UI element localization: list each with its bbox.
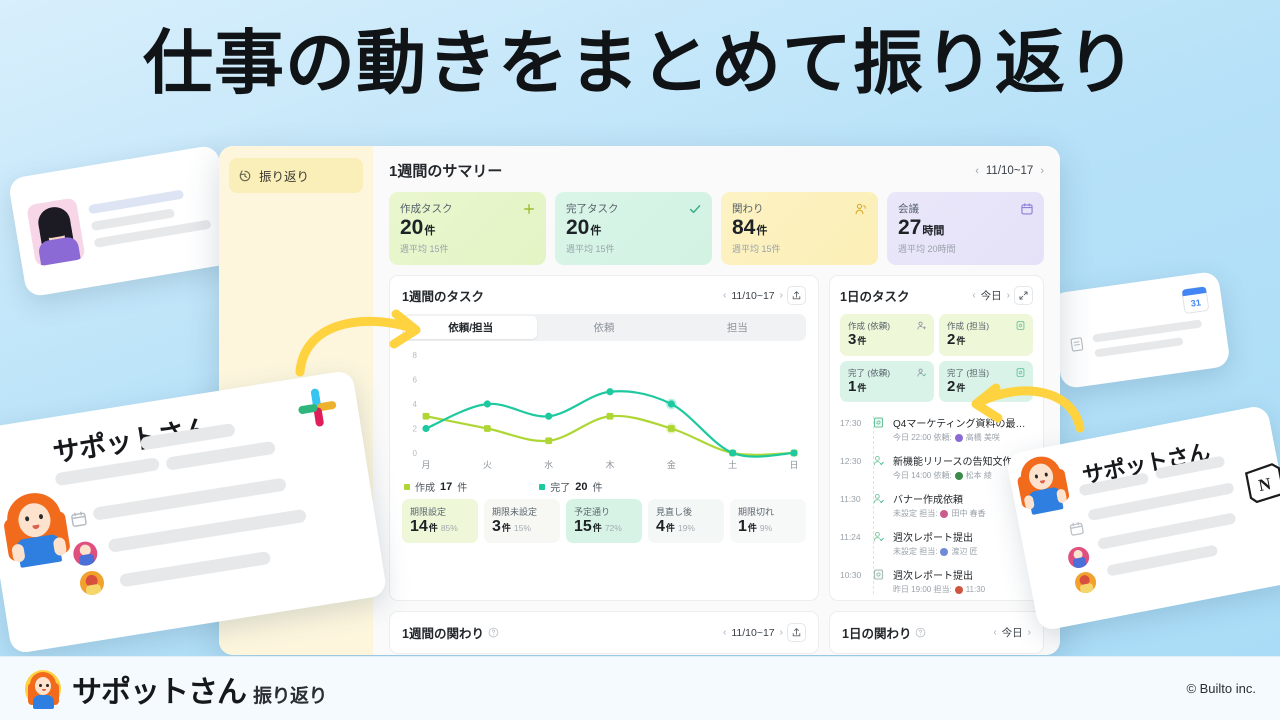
card-sub: 週平均 15件 <box>400 242 535 255</box>
card-label: 完了タスク <box>566 201 701 216</box>
card-label: 会議 <box>898 201 1033 216</box>
person-check-icon <box>872 529 887 548</box>
panel-title: 1日のタスク <box>840 286 909 305</box>
card-sub: 週平均 15件 <box>732 242 867 255</box>
mini-card-completed-assign[interactable]: 完了 (担当) 2件 <box>939 361 1033 403</box>
task-meta: 未設定 担当: 田中 春香 <box>893 508 1033 519</box>
card-sub: 週平均 20時間 <box>898 242 1033 255</box>
mini-card-completed-request[interactable]: 完了 (依頼) 1件 <box>840 361 934 403</box>
day-relation-pager[interactable]: ‹ 今日 › <box>993 625 1031 640</box>
week-pager[interactable]: ‹ 11/10~17 › <box>975 165 1044 177</box>
supotto-avatar-icon <box>24 669 62 709</box>
prev-arrow[interactable]: ‹ <box>975 165 979 177</box>
supotto-character-avatar <box>0 486 74 569</box>
svg-text:0: 0 <box>413 449 418 458</box>
mini-value: 2件 <box>947 379 1025 396</box>
stat-overdue: 期限切れ 1件9% <box>730 499 806 543</box>
mini-value: 2件 <box>947 332 1025 349</box>
svg-text:木: 木 <box>605 459 614 470</box>
next-arrow[interactable]: › <box>1028 627 1031 638</box>
task-meta: 未設定 担当: 渡辺 匠 <box>893 546 1033 557</box>
expand-icon <box>1018 290 1029 301</box>
stat-title: 期限未設定 <box>492 505 552 518</box>
middle-row: 1週間のタスク ‹ 11/10~17 › <box>389 275 1044 601</box>
person-check-icon <box>872 491 887 510</box>
summary-cards: 作成タスク 20件 週平均 15件 完了タスク 20件 週平均 15件 関わり … <box>389 192 1044 265</box>
card-label: 関わり <box>732 201 867 216</box>
history-icon <box>238 169 252 183</box>
panel-day-tasks: 1日のタスク ‹ 今日 › <box>829 275 1044 601</box>
panel-day-relation: 1日の関わり ‹ 今日 › <box>829 611 1044 654</box>
task-time: 10:30 <box>840 567 866 580</box>
legend-item-created: 作成 17 件 <box>404 479 467 494</box>
legend-label: 完了 <box>550 479 570 494</box>
legend-value: 20 <box>575 481 587 493</box>
svg-text:31: 31 <box>1190 297 1201 308</box>
mini-value: 1件 <box>848 379 926 396</box>
pager-value: 11/10~17 <box>986 165 1033 177</box>
list-item[interactable]: 11:24 週次レポート提出 未設定 担当: 渡辺 匠 <box>840 524 1033 562</box>
task-time: 11:24 <box>840 529 866 542</box>
day-mini-cards: 作成 (依頼) 3件 作成 (担当) 2件 <box>840 314 1033 402</box>
card-label: 作成タスク <box>400 201 535 216</box>
calendar-icon <box>1067 519 1086 538</box>
check-icon <box>688 202 702 216</box>
stat-deadline-set: 期限設定 14件85% <box>402 499 478 543</box>
slack-logo <box>292 382 342 432</box>
sidebar-item-furikaeri[interactable]: 振り返り <box>229 158 363 193</box>
card-value: 84件 <box>732 217 867 239</box>
weekly-task-line-chart: 02468月火水木金土日 <box>402 349 806 473</box>
panel-header: 1日のタスク ‹ 今日 › <box>840 286 1033 305</box>
legend-swatch <box>539 484 545 490</box>
legend-unit: 件 <box>457 479 467 494</box>
next-arrow[interactable]: › <box>780 627 783 638</box>
next-arrow[interactable]: › <box>1007 290 1010 301</box>
stat-value: 1件9% <box>738 519 798 536</box>
placeholder-bar <box>107 509 307 553</box>
stat-deadline-unset: 期限未設定 3件15% <box>484 499 560 543</box>
task-time: 17:30 <box>840 415 866 428</box>
svg-text:4: 4 <box>413 400 418 409</box>
task-time: 11:30 <box>840 491 866 504</box>
refresh-doc-icon <box>872 415 887 434</box>
list-item[interactable]: 17:30 Q4マーケティング資料の最終... 今日 22:00 依頼: 高橋 … <box>840 410 1033 448</box>
calendar-icon <box>1020 202 1034 216</box>
week-tasks-pager[interactable]: ‹ 11/10~17 › <box>723 290 783 302</box>
stat-title: 期限切れ <box>738 505 798 518</box>
avatar <box>26 197 86 266</box>
panel-header: 1週間のタスク ‹ 11/10~17 › <box>402 286 806 305</box>
svg-text:6: 6 <box>413 376 418 385</box>
tab-request[interactable]: 依頼 <box>537 316 670 339</box>
summary-card-relations[interactable]: 関わり 84件 週平均 15件 <box>721 192 878 265</box>
avatar <box>940 510 948 518</box>
help-icon[interactable] <box>488 627 499 638</box>
person-check-icon <box>916 367 927 378</box>
panel-title: 1週間の関わり <box>402 623 499 642</box>
stat-title: 見直し後 <box>656 505 716 518</box>
stat-value: 4件19% <box>656 519 716 536</box>
google-calendar-31-icon: 31 <box>1181 285 1210 314</box>
chart-legend: 作成 17 件 完了 20 件 <box>404 479 806 494</box>
mini-label: 完了 (担当) <box>947 367 1025 379</box>
tab-request-assign[interactable]: 依頼/担当 <box>404 316 537 339</box>
sidebar-item-label: 振り返り <box>259 166 309 185</box>
legend-item-completed: 完了 20 件 <box>539 479 602 494</box>
help-icon[interactable] <box>915 627 926 638</box>
stat-value: 15件72% <box>574 519 634 536</box>
avatar <box>955 434 963 442</box>
panel-title: 1週間のタスク <box>402 286 484 305</box>
task-meta: 昨日 19:00 担当: 11:30 <box>893 584 1033 595</box>
svg-text:火: 火 <box>483 460 492 470</box>
svg-text:2: 2 <box>413 425 418 434</box>
pager-value: 今日 <box>1002 625 1023 640</box>
pager-value: 11/10~17 <box>731 290 774 302</box>
supotto-character-avatar <box>1012 450 1072 516</box>
svg-text:金: 金 <box>667 459 676 470</box>
plus-icon <box>522 202 536 216</box>
svg-text:8: 8 <box>413 351 418 360</box>
task-time: 12:30 <box>840 453 866 466</box>
task-scope-tabs[interactable]: 依頼/担当 依頼 担当 <box>402 314 806 341</box>
placeholder-bar <box>1106 544 1218 576</box>
day-pager[interactable]: ‹ 今日 › <box>972 288 1010 303</box>
refresh-doc-icon <box>1015 367 1026 378</box>
card-value: 20件 <box>566 217 701 239</box>
main-header: 1週間のサマリー ‹ 11/10~17 › <box>389 160 1044 181</box>
brand-logo: サポットさん 振り返り <box>24 667 327 711</box>
refresh-doc-icon <box>1015 320 1026 331</box>
share-button[interactable] <box>787 286 806 305</box>
summary-card-created-tasks[interactable]: 作成タスク 20件 週平均 15件 <box>389 192 546 265</box>
panel-week-relation: 1週間の関わり ‹ 11/10~17 › <box>389 611 819 654</box>
task-title: 週次レポート提出 <box>893 567 1033 582</box>
tab-assign[interactable]: 担当 <box>671 316 804 339</box>
summary-card-completed-tasks[interactable]: 完了タスク 20件 週平均 15件 <box>555 192 712 265</box>
person-add-icon <box>916 320 927 331</box>
next-arrow[interactable]: › <box>1040 165 1044 177</box>
svg-text:土: 土 <box>728 459 737 470</box>
refresh-doc-icon <box>872 567 887 586</box>
svg-text:月: 月 <box>421 460 430 470</box>
next-arrow[interactable]: › <box>780 290 783 301</box>
brand-name: サポットさん <box>72 667 246 711</box>
legend-unit: 件 <box>593 479 603 494</box>
avatar <box>1066 545 1091 570</box>
week-relation-pager[interactable]: ‹ 11/10~17 › <box>723 627 783 639</box>
task-title: 週次レポート提出 <box>893 529 1033 544</box>
panel-title: 1日の関わり <box>842 623 926 642</box>
summary-card-meetings[interactable]: 会議 27時間 週平均 20時間 <box>887 192 1044 265</box>
mini-card-created-assign[interactable]: 作成 (担当) 2件 <box>939 314 1033 356</box>
stat-revised: 見直し後 4件19% <box>648 499 724 543</box>
bottom-row: 1週間の関わり ‹ 11/10~17 › <box>389 611 1044 654</box>
product-name: 振り返り <box>253 681 327 708</box>
avatar <box>1073 570 1098 595</box>
share-icon <box>791 627 802 638</box>
legend-label: 作成 <box>415 479 435 494</box>
svg-text:日: 日 <box>789 460 798 470</box>
card-sub: 週平均 15件 <box>566 242 701 255</box>
calendar-icon <box>69 509 90 530</box>
stat-value: 3件15% <box>492 519 552 536</box>
day-task-list: 17:30 Q4マーケティング資料の最終... 今日 22:00 依頼: 高橋 … <box>840 410 1033 600</box>
stat-value: 14件85% <box>410 519 470 536</box>
list-item[interactable]: 10:30 週次レポート提出 昨日 19:00 担当: 11:30 <box>840 562 1033 600</box>
legend-swatch <box>404 484 410 490</box>
svg-text:水: 水 <box>544 459 553 470</box>
task-title: Q4マーケティング資料の最終... <box>893 415 1033 430</box>
mini-label: 作成 (依頼) <box>848 320 926 332</box>
pager-value: 今日 <box>981 288 1002 303</box>
list-item[interactable]: 11:30 バナー作成依頼 未設定 担当: 田中 春香 <box>840 486 1033 524</box>
page-title: 1週間のサマリー <box>389 160 502 181</box>
main-content: 1週間のサマリー ‹ 11/10~17 › 作成タスク 20件 週平均 15件 … <box>373 146 1060 655</box>
placeholder-bar <box>1097 512 1237 550</box>
mini-value: 3件 <box>848 332 926 349</box>
chart-svg: 02468月火水木金土日 <box>402 349 802 473</box>
stat-title: 予定通り <box>574 505 634 518</box>
avatar <box>72 540 99 567</box>
task-meta: 今日 22:00 依頼: 高橋 美咲 <box>893 432 1033 443</box>
avatar <box>955 586 963 594</box>
page-headline: 仕事の動きをまとめて振り返り <box>0 28 1280 98</box>
stat-on-schedule: 予定通り 15件72% <box>566 499 642 543</box>
avatar <box>955 472 963 480</box>
doc-icon <box>1068 336 1085 353</box>
prev-arrow[interactable]: ‹ <box>993 627 996 638</box>
mini-label: 作成 (担当) <box>947 320 1025 332</box>
legend-value: 17 <box>440 481 452 493</box>
mini-label: 完了 (依頼) <box>848 367 926 379</box>
list-item[interactable]: 12:30 新機能リリースの告知文作成 今日 14:00 依頼: 松本 綾 <box>840 448 1033 486</box>
card-value: 27時間 <box>898 217 1033 239</box>
share-icon <box>791 290 802 301</box>
bottom-brand-bar: サポットさん 振り返り © Builto inc. <box>0 656 1280 720</box>
person-check-icon <box>872 453 887 472</box>
expand-button[interactable] <box>1014 286 1033 305</box>
copyright: © Builto inc. <box>1186 681 1256 696</box>
prev-arrow[interactable]: ‹ <box>723 627 726 638</box>
avatar <box>78 569 105 596</box>
panel-week-tasks: 1週間のタスク ‹ 11/10~17 › <box>389 275 819 601</box>
placeholder-bar <box>119 551 271 588</box>
placeholder-bar <box>92 477 287 520</box>
task-stats-row: 期限設定 14件85% 期限未設定 3件15% 予定通り 15件72% 見直し後… <box>402 499 806 543</box>
avatar <box>940 548 948 556</box>
notion-logo: N <box>1240 458 1280 507</box>
share-button[interactable] <box>787 623 806 642</box>
prev-arrow[interactable]: ‹ <box>723 290 726 301</box>
person-icon <box>854 202 868 216</box>
card-value: 20件 <box>400 217 535 239</box>
stat-title: 期限設定 <box>410 505 470 518</box>
mini-card-created-request[interactable]: 作成 (依頼) 3件 <box>840 314 934 356</box>
prev-arrow[interactable]: ‹ <box>972 290 975 301</box>
pager-value: 11/10~17 <box>731 627 774 639</box>
